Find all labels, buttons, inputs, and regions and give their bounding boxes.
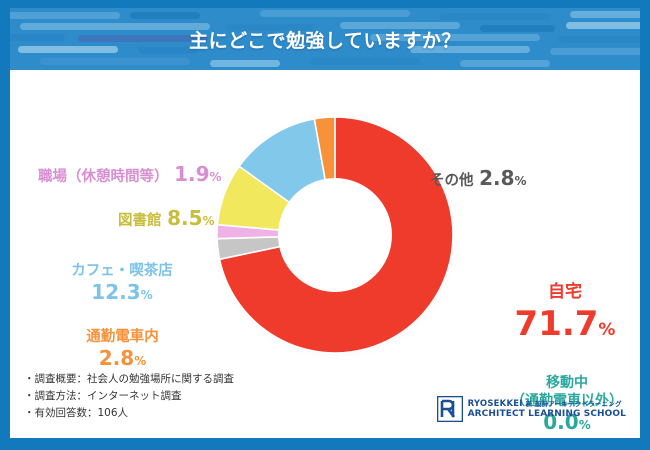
label-home-sign: % bbox=[598, 320, 615, 340]
ryosekkei-monogram-icon bbox=[437, 396, 463, 422]
label-other-value: 2.8 bbox=[479, 166, 514, 190]
label-workplace: 職場（休憩時間等） 1.9% bbox=[38, 162, 222, 187]
label-moving-name-line1: 移動中 bbox=[478, 375, 640, 393]
label-commuter-train: 通勤電車内 2.8% bbox=[50, 328, 195, 371]
label-cafe: カフェ・喫茶店 12.3% bbox=[42, 262, 202, 305]
chart-board: 職場（休憩時間等） 1.9% 図書館 8.5% カフェ・喫茶店 12.3% 通勤… bbox=[10, 70, 640, 438]
infographic-root: 主にどこで勉強していますか？ 職場（休憩時間等） 1.9% 図書館 8.5% bbox=[0, 0, 650, 450]
donut-chart bbox=[215, 115, 455, 355]
label-home: 自宅 71.7% bbox=[490, 282, 640, 346]
label-commuter-train-name: 通勤電車内 bbox=[50, 328, 195, 346]
label-other-sign: % bbox=[515, 174, 527, 188]
label-home-value: 71.7 bbox=[515, 304, 599, 344]
label-commuter-train-value: 2.8 bbox=[99, 346, 134, 370]
brand-logo: RYOSEKKEI 新 設計アーキテクトラーニング ARCHITECT LEAR… bbox=[437, 396, 626, 422]
label-library-sign: % bbox=[203, 214, 215, 228]
survey-note-responses: ・有効回答数：106人 bbox=[24, 405, 234, 422]
logo-line1-en: RYOSEKKEI bbox=[468, 399, 523, 409]
label-home-name: 自宅 bbox=[490, 282, 640, 303]
label-cafe-name: カフェ・喫茶店 bbox=[42, 262, 202, 280]
label-cafe-value: 12.3 bbox=[91, 280, 140, 304]
label-other-name: その他 bbox=[430, 173, 474, 189]
logo-line1: RYOSEKKEI 新 設計アーキテクトラーニング bbox=[468, 399, 626, 409]
label-commuter-train-sign: % bbox=[134, 354, 146, 368]
survey-note-method: ・調査方法：インターネット調査 bbox=[24, 388, 234, 405]
label-library-value: 8.5 bbox=[167, 206, 202, 230]
label-workplace-value: 1.9 bbox=[174, 162, 209, 186]
donut-svg bbox=[215, 115, 455, 355]
logo-line2: ARCHITECT LEARNING SCHOOL bbox=[468, 409, 626, 420]
label-workplace-sign: % bbox=[210, 170, 222, 184]
label-cafe-sign: % bbox=[141, 288, 153, 302]
survey-notes: ・調査概要：社会人の勉強場所に関する調査 ・調査方法：インターネット調査 ・有効… bbox=[24, 371, 234, 422]
logo-text: RYOSEKKEI 新 設計アーキテクトラーニング ARCHITECT LEAR… bbox=[468, 399, 626, 420]
label-library: 図書館 8.5% bbox=[118, 206, 215, 231]
survey-note-overview: ・調査概要：社会人の勉強場所に関する調査 bbox=[24, 371, 234, 388]
label-library-name: 図書館 bbox=[118, 213, 162, 229]
label-workplace-name: 職場（休憩時間等） bbox=[38, 169, 169, 185]
page-title: 主にどこで勉強していますか？ bbox=[10, 8, 640, 70]
label-other: その他 2.8% bbox=[430, 166, 527, 191]
header-banner: 主にどこで勉強していますか？ bbox=[10, 8, 640, 70]
logo-line1-jp: 新 設計アーキテクトラーニング bbox=[526, 400, 622, 408]
